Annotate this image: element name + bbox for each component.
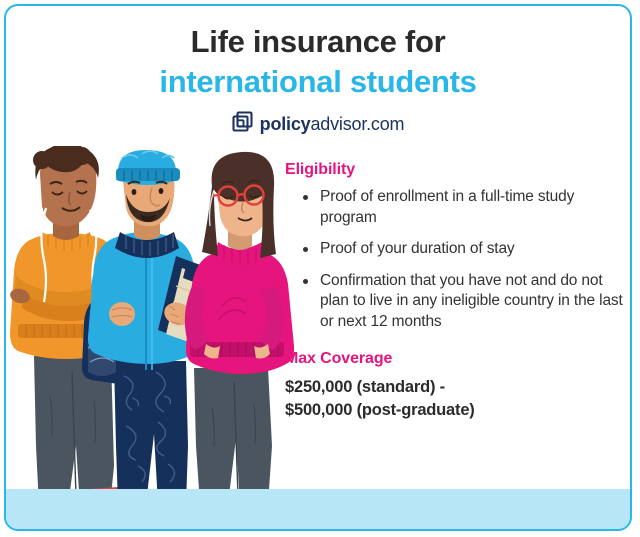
brand-name: policyadvisor.com — [260, 114, 405, 135]
page-title-line1: Life insurance for — [6, 22, 630, 62]
page-title-line2: international students — [6, 62, 630, 102]
list-item-text: Confirmation that you have not and do no… — [320, 272, 623, 330]
brand-logo: policyadvisor.com — [6, 111, 630, 137]
infographic-card: Life insurance for international student… — [4, 4, 632, 531]
brand-name-light: advisor.com — [310, 114, 404, 134]
eligibility-heading: Eligibility — [285, 161, 625, 179]
max-coverage-heading: Max Coverage — [285, 350, 625, 368]
content-column: Eligibility Proof of enrollment in a ful… — [285, 161, 625, 422]
eligibility-list: Proof of enrollment in a full-time study… — [285, 187, 625, 332]
three-international-students-illustration — [6, 146, 296, 511]
list-item-text: Proof of enrollment in a full-time study… — [320, 188, 574, 226]
list-item: Proof of enrollment in a full-time study… — [285, 187, 625, 228]
max-coverage-value-line1: $250,000 (standard) - — [285, 376, 625, 399]
bullet-dot-icon — [303, 279, 308, 284]
max-coverage-value-line2: $500,000 (post-graduate) — [285, 399, 625, 422]
list-item-text: Proof of your duration of stay — [320, 240, 515, 257]
overlapping-squares-logo-icon — [232, 111, 253, 137]
floor-band — [6, 489, 630, 529]
bullet-dot-icon — [303, 195, 308, 200]
brand-name-bold: policy — [260, 114, 311, 134]
bullet-dot-icon — [303, 247, 308, 252]
header: Life insurance for international student… — [6, 22, 630, 137]
list-item: Proof of your duration of stay — [285, 239, 625, 260]
list-item: Confirmation that you have not and do no… — [285, 271, 625, 333]
